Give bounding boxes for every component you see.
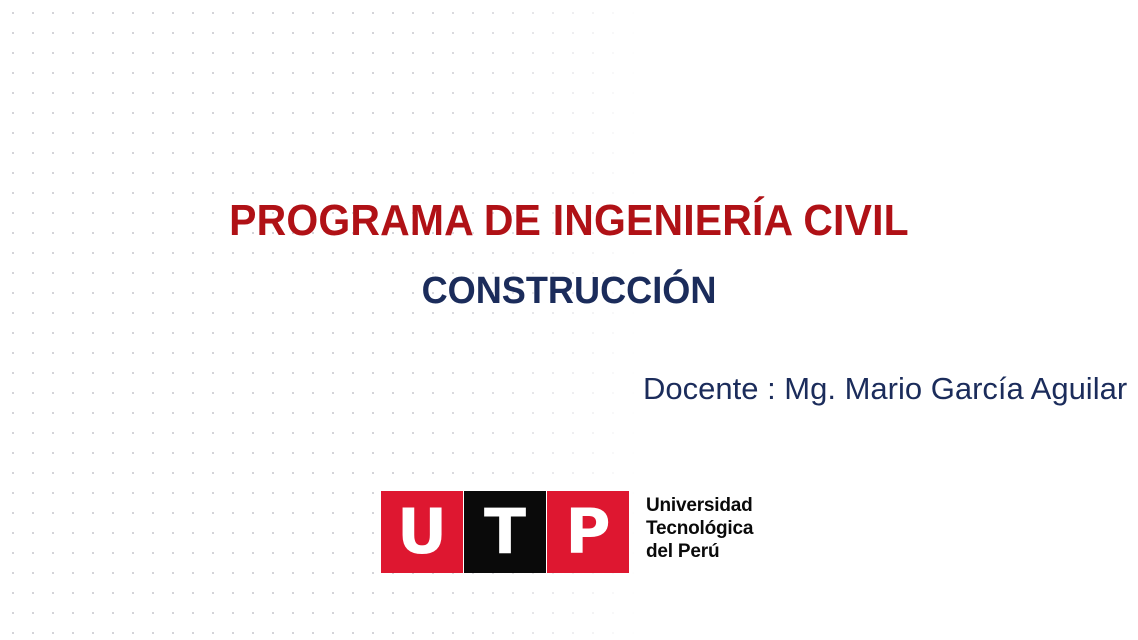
utp-logo-wordmark-line-1: Universidad: [646, 494, 753, 517]
instructor-label: Docente : Mg. Mario García Aguilar: [643, 371, 1127, 407]
utp-logo-wordmark-line-2: Tecnológica: [646, 517, 753, 540]
page-title: PROGRAMA DE INGENIERÍA CIVIL: [40, 196, 1098, 246]
utp-logo-wordmark: Universidad Tecnológica del Perú: [646, 494, 753, 563]
utp-logo-block-u: U: [381, 491, 463, 573]
utp-logo-mark: U T P: [381, 491, 628, 573]
presentation-slide: PROGRAMA DE INGENIERÍA CIVIL CONSTRUCCIÓ…: [0, 0, 1138, 640]
utp-logo-block-t: T: [464, 491, 546, 573]
utp-logo-block-p: P: [547, 491, 629, 573]
utp-logo-letter-t: T: [464, 491, 546, 573]
utp-logo-wordmark-line-3: del Perú: [646, 540, 753, 563]
utp-logo-letter-p: P: [547, 491, 629, 573]
utp-logo-letter-u: U: [381, 491, 463, 573]
utp-logo: U T P Universidad Tecnológica del Perú: [381, 491, 758, 573]
page-subtitle: CONSTRUCCIÓN: [28, 270, 1109, 313]
